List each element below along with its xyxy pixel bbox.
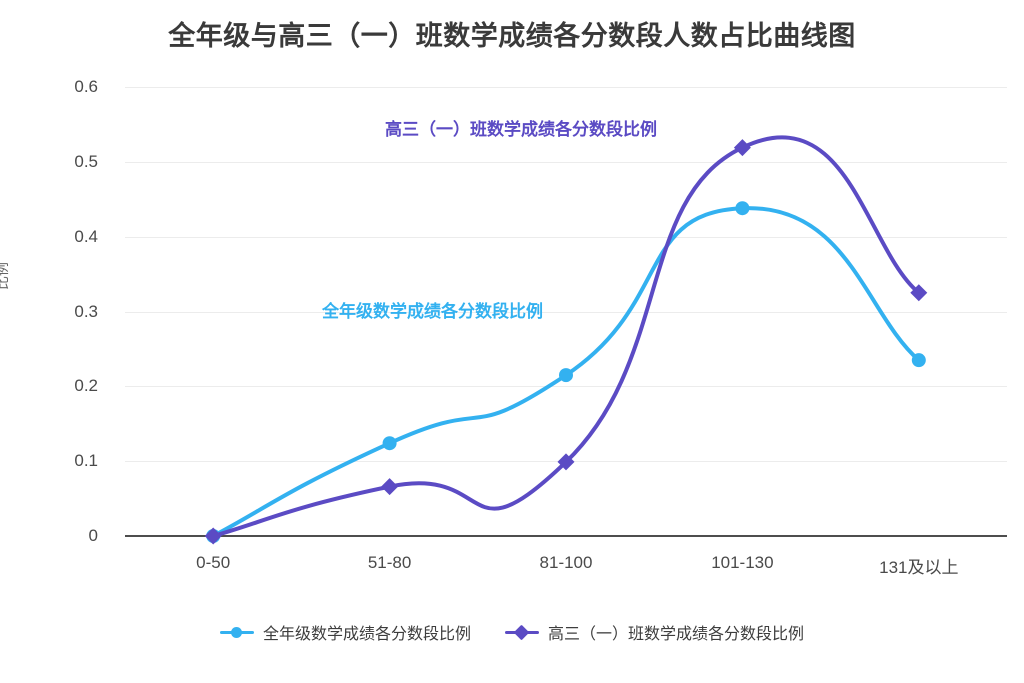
y-axis-tick-labels: 00.10.20.30.40.50.6 bbox=[0, 87, 110, 536]
y-axis-tick: 0.3 bbox=[8, 302, 98, 322]
x-axis-tick-labels: 0-5051-8081-100101-130131及以上 bbox=[125, 553, 1007, 583]
legend-symbol-diamond-icon bbox=[505, 624, 539, 640]
data-point-marker[interactable] bbox=[381, 478, 398, 495]
legend-label: 全年级数学成绩各分数段比例 bbox=[263, 620, 471, 644]
x-axis-tick: 101-130 bbox=[711, 553, 773, 573]
x-axis-tick: 81-100 bbox=[540, 553, 593, 573]
data-point-marker[interactable] bbox=[205, 528, 222, 545]
annotation-class-series: 高三（一）班数学成绩各分数段比例 bbox=[385, 115, 657, 140]
annotation-grade-series: 全年级数学成绩各分数段比例 bbox=[322, 297, 543, 322]
chart-title: 全年级与高三（一）班数学成绩各分数段人数占比曲线图 bbox=[0, 14, 1024, 53]
plot-area bbox=[125, 87, 1007, 536]
y-axis-tick: 0.2 bbox=[8, 376, 98, 396]
x-axis-tick: 0-50 bbox=[196, 553, 230, 573]
chart-container: 全年级与高三（一）班数学成绩各分数段人数占比曲线图 比例 00.10.20.30… bbox=[0, 0, 1024, 683]
data-point-marker[interactable] bbox=[912, 353, 926, 367]
legend-item-1[interactable]: 全年级数学成绩各分数段比例 bbox=[220, 620, 471, 644]
legend-item-2[interactable]: 高三（一）班数学成绩各分数段比例 bbox=[505, 620, 804, 644]
data-point-marker[interactable] bbox=[734, 139, 751, 156]
chart-legend: 全年级数学成绩各分数段比例高三（一）班数学成绩各分数段比例 bbox=[0, 620, 1024, 644]
data-point-marker[interactable] bbox=[383, 436, 397, 450]
legend-label: 高三（一）班数学成绩各分数段比例 bbox=[548, 620, 804, 644]
y-axis-tick: 0.5 bbox=[8, 152, 98, 172]
y-axis-tick: 0.1 bbox=[8, 451, 98, 471]
x-axis-tick: 131及以上 bbox=[879, 553, 958, 578]
x-axis-tick: 51-80 bbox=[368, 553, 411, 573]
data-point-marker[interactable] bbox=[735, 201, 749, 215]
legend-symbol-circle-icon bbox=[220, 624, 254, 640]
y-axis-tick: 0.4 bbox=[8, 227, 98, 247]
y-axis-tick: 0 bbox=[8, 526, 98, 546]
y-axis-tick: 0.6 bbox=[8, 77, 98, 97]
data-point-marker[interactable] bbox=[559, 368, 573, 382]
series-layer bbox=[125, 87, 1007, 536]
